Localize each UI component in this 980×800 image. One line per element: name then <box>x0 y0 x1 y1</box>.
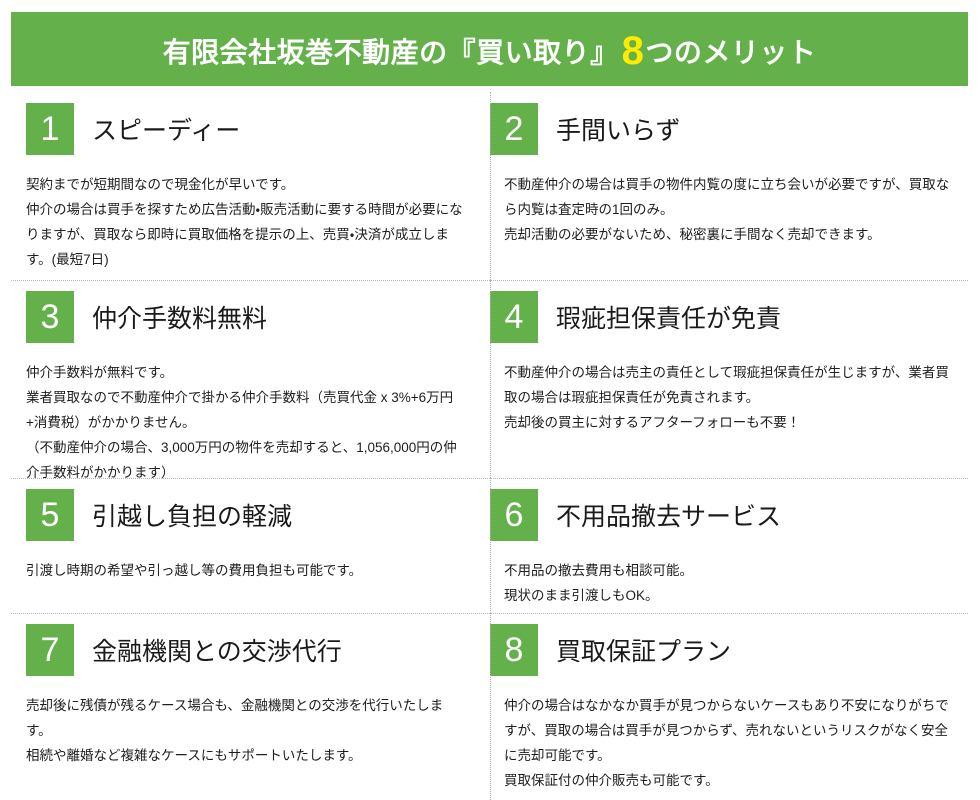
header-banner: 有限会社坂巻不動産の『買い取り』8つのメリット <box>11 12 968 86</box>
merit-title: 不用品撤去サービス <box>556 497 781 533</box>
page-title-prefix: 有限会社坂巻不動産の『買い取り』 <box>163 39 619 67</box>
merit-header: 7 金融機関との交渉代行 <box>26 613 468 676</box>
merit-count-number: 8 <box>622 31 645 71</box>
merit-number-badge: 3 <box>26 291 74 343</box>
merit-description: 売却後に残債が残るケース場合も、金融機関との交渉を代行いたします。 相続や離婚な… <box>26 694 468 769</box>
merit-header: 2 手間いらず <box>504 92 958 155</box>
merit-number-badge: 1 <box>26 103 74 155</box>
merit-description: 不動産仲介の場合は売主の責任として瑕疵担保責任が生じますが、業者買取の場合は瑕疵… <box>504 361 958 436</box>
merit-title: 引越し負担の軽減 <box>92 497 292 533</box>
merit-card-3: 3 仲介手数料無料 仲介手数料が無料です。 業者買取なので不動産仲介で掛かる仲介… <box>0 280 490 478</box>
merit-description: 仲介の場合はなかなか買手が見つからないケースもあり不安になりがちですが、買取の場… <box>504 694 958 794</box>
merit-description: 不用品の撤去費用も相談可能。 現状のまま引渡しもOK。 <box>504 559 958 609</box>
merit-number-badge: 5 <box>26 489 74 541</box>
merit-title: 買取保証プラン <box>556 632 731 668</box>
merit-title: 手間いらず <box>556 111 681 147</box>
merit-description: 契約までが短期間なので現金化が早いです。 仲介の場合は買手を探すため広告活動・販… <box>26 173 468 273</box>
merit-grid: 1 スピーディー 契約までが短期間なので現金化が早いです。 仲介の場合は買手を探… <box>0 92 980 800</box>
merit-title: 仲介手数料無料 <box>92 299 267 335</box>
merit-row: 1 スピーディー 契約までが短期間なので現金化が早いです。 仲介の場合は買手を探… <box>0 92 980 280</box>
merit-card-6: 6 不用品撤去サービス 不用品の撤去費用も相談可能。 現状のまま引渡しもOK。 <box>490 478 980 613</box>
merit-row: 3 仲介手数料無料 仲介手数料が無料です。 業者買取なので不動産仲介で掛かる仲介… <box>0 280 980 478</box>
merit-header: 3 仲介手数料無料 <box>26 280 468 343</box>
merit-card-5: 5 引越し負担の軽減 引渡し時期の希望や引っ越し等の費用負担も可能です。 <box>0 478 490 613</box>
merit-card-4: 4 瑕疵担保責任が免責 不動産仲介の場合は売主の責任として瑕疵担保責任が生じます… <box>490 280 980 478</box>
merit-description: 仲介手数料が無料です。 業者買取なので不動産仲介で掛かる仲介手数料（売買代金 x… <box>26 361 468 486</box>
merit-number-badge: 7 <box>26 624 74 676</box>
merit-number-badge: 8 <box>490 624 538 676</box>
page-title-suffix: つのメリット <box>645 39 816 67</box>
merit-number-badge: 6 <box>490 489 538 541</box>
merit-number-badge: 2 <box>490 103 538 155</box>
merit-title: スピーディー <box>92 111 240 147</box>
merit-card-7: 7 金融機関との交渉代行 売却後に残債が残るケース場合も、金融機関との交渉を代行… <box>0 613 490 800</box>
merit-header: 6 不用品撤去サービス <box>504 478 958 541</box>
merit-header: 1 スピーディー <box>26 92 468 155</box>
merit-header: 8 買取保証プラン <box>504 613 958 676</box>
merit-row: 5 引越し負担の軽減 引渡し時期の希望や引っ越し等の費用負担も可能です。 6 不… <box>0 478 980 613</box>
merit-header: 5 引越し負担の軽減 <box>26 478 468 541</box>
merit-header: 4 瑕疵担保責任が免責 <box>504 280 958 343</box>
merit-card-1: 1 スピーディー 契約までが短期間なので現金化が早いです。 仲介の場合は買手を探… <box>0 92 490 280</box>
merit-title: 金融機関との交渉代行 <box>92 632 342 668</box>
merit-card-2: 2 手間いらず 不動産仲介の場合は買手の物件内覧の度に立ち会いが必要ですが、買取… <box>490 92 980 280</box>
merit-description: 不動産仲介の場合は買手の物件内覧の度に立ち会いが必要ですが、買取なら内覧は査定時… <box>504 173 958 248</box>
merit-title: 瑕疵担保責任が免責 <box>556 299 781 335</box>
merit-number-badge: 4 <box>490 291 538 343</box>
merit-card-8: 8 買取保証プラン 仲介の場合はなかなか買手が見つからないケースもあり不安になり… <box>490 613 980 800</box>
merit-description: 引渡し時期の希望や引っ越し等の費用負担も可能です。 <box>26 559 468 584</box>
page-title: 有限会社坂巻不動産の『買い取り』8つのメリット <box>163 29 817 69</box>
merit-row: 7 金融機関との交渉代行 売却後に残債が残るケース場合も、金融機関との交渉を代行… <box>0 613 980 800</box>
